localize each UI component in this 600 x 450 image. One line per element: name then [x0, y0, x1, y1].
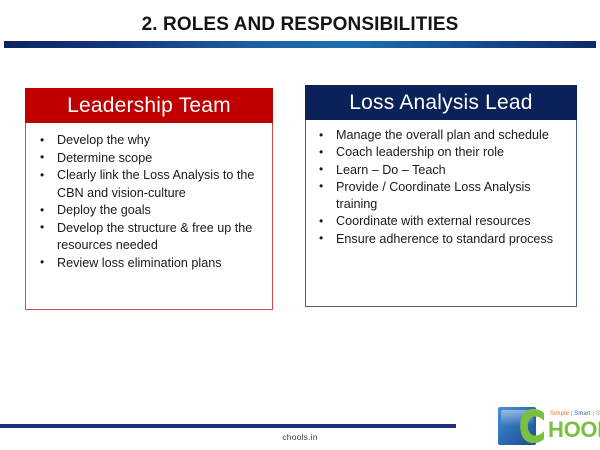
- list-item: Develop the why: [36, 132, 264, 150]
- list-item: Review loss elimination plans: [36, 255, 264, 273]
- bullet-list-leadership-team: Develop the why Determine scope Clearly …: [26, 123, 272, 272]
- panel-header-loss-analysis-lead: Loss Analysis Lead: [305, 85, 577, 120]
- logo-c-letter-icon: [517, 406, 547, 446]
- panel-header-leadership-team: Leadership Team: [25, 88, 273, 123]
- slide-canvas: 2. ROLES AND RESPONSIBILITIES Leadership…: [0, 0, 600, 450]
- list-item: Learn – Do – Teach: [315, 162, 570, 179]
- panel-loss-analysis-lead: Loss Analysis Lead Manage the overall pl…: [305, 85, 577, 307]
- logo-wordmark: HOOLS: [548, 418, 600, 442]
- list-item: Coach leadership on their role: [315, 144, 570, 161]
- footer-divider-line: [0, 424, 456, 428]
- page-title: 2. ROLES AND RESPONSIBILITIES: [0, 14, 600, 36]
- bullet-list-loss-analysis-lead: Manage the overall plan and schedule Coa…: [306, 120, 576, 248]
- list-item: Clearly link the Loss Analysis to the CB…: [36, 167, 264, 202]
- list-item: Provide / Coordinate Loss Analysis train…: [315, 179, 570, 214]
- list-item: Ensure adherence to standard process: [315, 231, 570, 248]
- list-item: Develop the structure & free up the reso…: [36, 220, 264, 255]
- list-item: Coordinate with external resources: [315, 213, 570, 230]
- list-item: Determine scope: [36, 150, 264, 168]
- title-divider-bar: [4, 41, 596, 48]
- list-item: Deploy the goals: [36, 202, 264, 220]
- panel-body-leadership-team: Develop the why Determine scope Clearly …: [26, 123, 272, 272]
- panel-body-loss-analysis-lead: Manage the overall plan and schedule Coa…: [306, 120, 576, 248]
- list-item: Manage the overall plan and schedule: [315, 127, 570, 144]
- panel-leadership-team: Leadership Team Develop the why Determin…: [25, 88, 273, 310]
- chools-logo: Simple | Smart | Speed HOOLS: [498, 406, 598, 446]
- slide-title-area: 2. ROLES AND RESPONSIBILITIES: [0, 14, 600, 36]
